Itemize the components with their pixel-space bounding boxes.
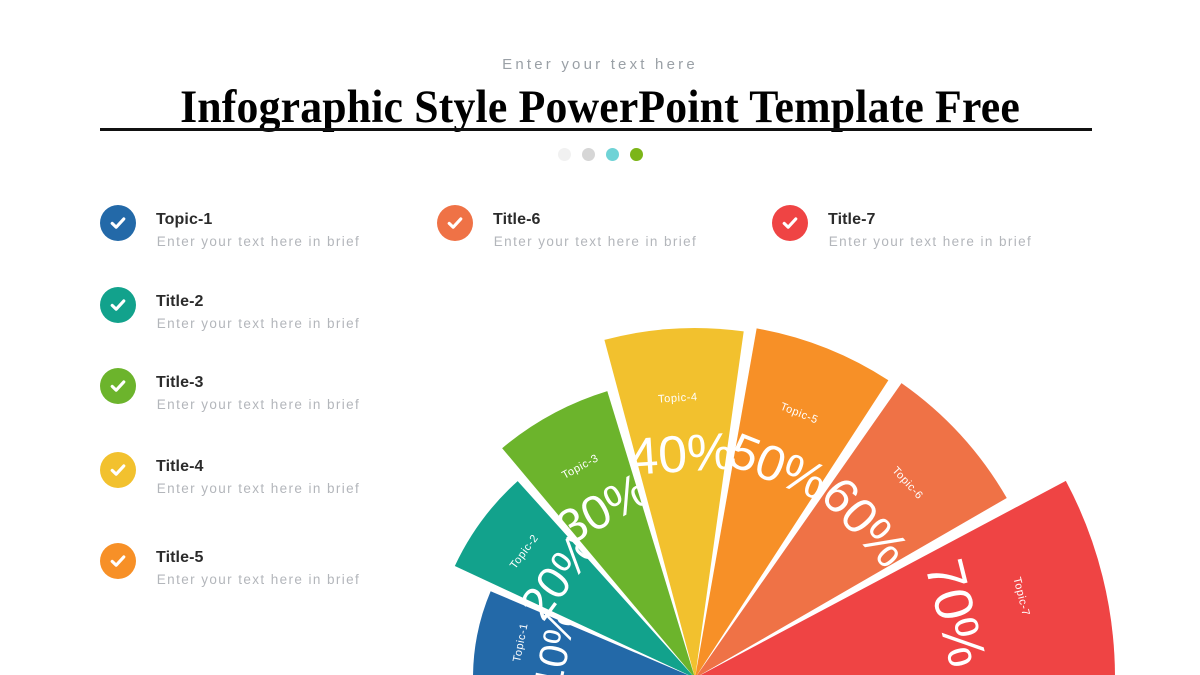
pagination-dot-3[interactable] <box>606 148 619 161</box>
pie-wedge-value-topic-3: 30% <box>549 463 659 555</box>
pie-wedge-value-topic-1: 10% <box>526 606 585 675</box>
eyebrow-text: Enter your text here <box>0 56 1200 73</box>
pie-wedge-topic-5[interactable] <box>695 328 888 675</box>
pie-wedge-value-topic-2: 20% <box>509 524 606 629</box>
legend-item-description: Enter your text here in brief <box>493 233 698 251</box>
pie-wedge-label-topic-5: Topic-5 <box>778 401 819 427</box>
pie-wedge-label-topic-2: Topic-2 <box>508 532 541 571</box>
legend-item-label: Title-5 <box>156 549 204 567</box>
legend-item-label: Title-4 <box>156 458 204 476</box>
pie-wedge-topic-7[interactable] <box>695 481 1115 675</box>
pie-wedge-value-topic-5: 50% <box>722 422 836 511</box>
legend-item-label: Title-6 <box>493 211 541 229</box>
legend-item-label: Title-7 <box>828 211 876 229</box>
page-title-wrapper: Infographic Style PowerPoint Template Fr… <box>100 82 1100 132</box>
check-circle-icon <box>437 205 473 241</box>
pie-wedge-label-topic-1: Topic-1 <box>511 622 531 663</box>
check-circle-icon <box>100 205 136 241</box>
legend-item-label: Title-2 <box>156 293 204 311</box>
pie-wedge-value-topic-6: 60% <box>811 466 920 578</box>
legend-item-label: Title-3 <box>156 374 204 392</box>
check-circle-icon <box>772 205 808 241</box>
pie-wedge-topic-2[interactable] <box>455 481 695 675</box>
pie-wedge-topic-3[interactable] <box>502 391 695 675</box>
legend-item-description: Enter your text here in brief <box>156 315 361 333</box>
pagination-dots <box>0 148 1200 161</box>
pie-wedge-topic-1[interactable] <box>473 591 695 675</box>
pie-wedge-label-topic-7: Topic-7 <box>1010 576 1031 617</box>
legend-item-description: Enter your text here in brief <box>156 480 361 498</box>
check-circle-icon <box>100 287 136 323</box>
legend-item-label: Topic-1 <box>156 211 212 229</box>
legend-item-description: Enter your text here in brief <box>828 233 1033 251</box>
pagination-dot-4[interactable] <box>630 148 643 161</box>
pie-wedge-label-topic-3: Topic-3 <box>560 452 601 481</box>
legend-item-description: Enter your text here in brief <box>156 396 361 414</box>
pie-wedge-label-topic-6: Topic-6 <box>890 465 926 502</box>
pie-wedge-topic-4[interactable] <box>604 328 743 675</box>
pagination-dot-1[interactable] <box>558 148 571 161</box>
legend-item-description: Enter your text here in brief <box>156 233 361 251</box>
pagination-dot-2[interactable] <box>582 148 595 161</box>
legend-item-description: Enter your text here in brief <box>156 571 361 589</box>
pie-wedge-label-topic-4: Topic-4 <box>658 391 698 405</box>
pie-wedge-value-topic-4: 40% <box>628 423 735 487</box>
check-circle-icon <box>100 543 136 579</box>
title-underline <box>100 128 1092 131</box>
pie-wedge-topic-6[interactable] <box>695 383 1007 675</box>
check-circle-icon <box>100 452 136 488</box>
check-circle-icon <box>100 368 136 404</box>
pie-wedge-value-topic-7: 70% <box>913 553 997 672</box>
page-title: Infographic Style PowerPoint Template Fr… <box>135 82 1065 132</box>
slide-root: Enter your text here Infographic Style P… <box>0 0 1200 675</box>
